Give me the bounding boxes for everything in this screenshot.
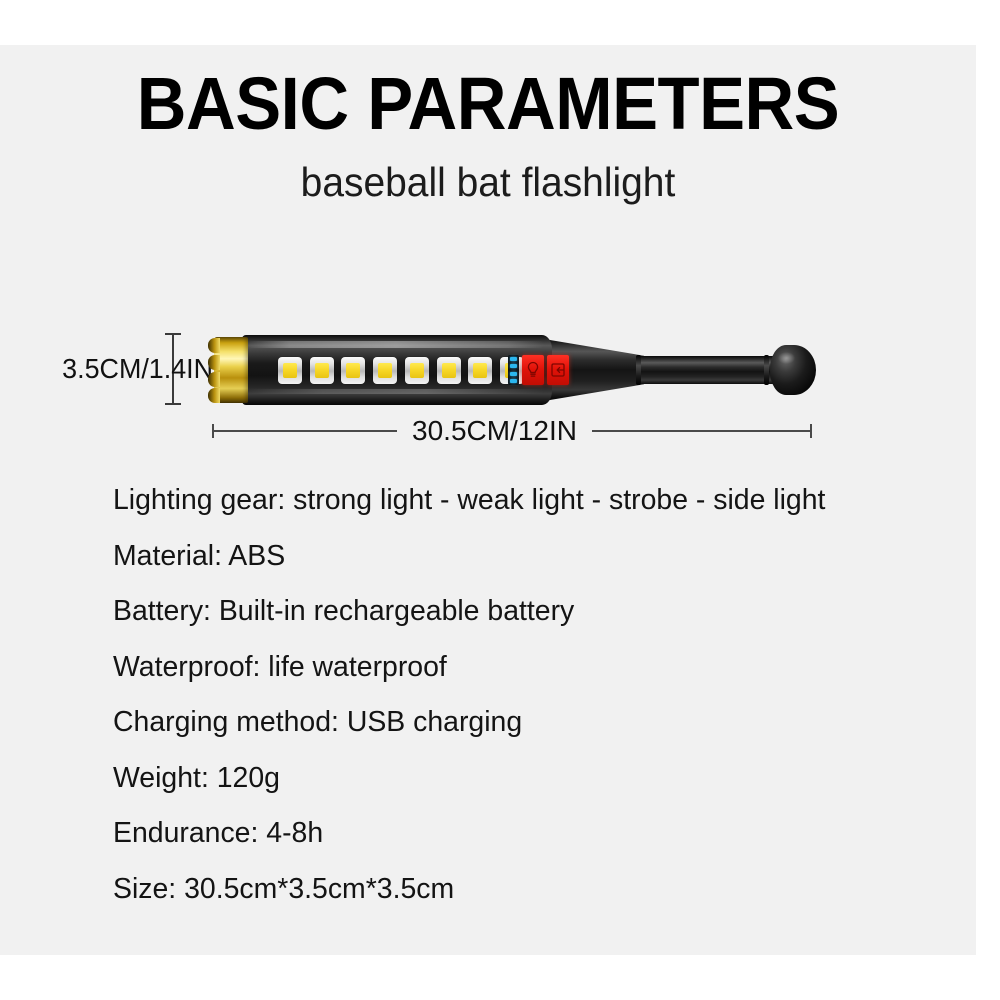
control-panel	[508, 353, 570, 387]
led-module	[373, 357, 397, 384]
spec-item: Endurance: 4-8h	[113, 806, 946, 862]
led-module	[405, 357, 429, 384]
product-spec-page: BASIC PARAMETERS baseball bat flashlight…	[0, 0, 1000, 1000]
length-dimension-line-right	[592, 430, 812, 432]
led-module	[437, 357, 461, 384]
battery-bar	[510, 372, 517, 376]
bat-handle-ring-upper	[636, 355, 641, 385]
led-module	[310, 357, 334, 384]
spec-item: Material: ABS	[113, 529, 946, 585]
battery-bar	[510, 379, 517, 383]
bezel-crenellation	[208, 337, 220, 403]
spec-item: Waterproof: life waterproof	[113, 640, 946, 696]
length-dimension-label: 30.5CM/12IN	[397, 415, 592, 447]
led-module	[468, 357, 492, 384]
battery-indicator	[508, 355, 519, 385]
battery-bar	[510, 364, 517, 368]
lightbulb-icon[interactable]	[522, 355, 544, 385]
spec-item: Lighting gear: strong light - weak light…	[113, 473, 946, 529]
bat-handle	[638, 356, 778, 384]
spec-item: Weight: 120g	[113, 751, 946, 807]
height-dimension-label: 3.5CM/1.4IN	[62, 353, 162, 385]
specification-list: Lighting gear: strong light - weak light…	[113, 473, 963, 917]
power-icon[interactable]	[547, 355, 569, 385]
page-subtitle: baseball bat flashlight	[24, 158, 951, 206]
bat-end-knob	[770, 345, 816, 395]
led-module	[341, 357, 365, 384]
length-dimension-cap-right	[810, 424, 812, 438]
baseball-bat-flashlight-image	[208, 327, 818, 411]
height-dimension-cap-bottom	[165, 403, 181, 405]
spec-item: Size: 30.5cm*3.5cm*3.5cm	[113, 862, 946, 918]
product-illustration: 3.5CM/1.4IN 30.5CM/12IN	[0, 275, 976, 460]
length-dimension-line-left	[212, 430, 397, 432]
side-led-array	[278, 356, 524, 384]
battery-bar	[510, 357, 517, 361]
bat-handle-ring-lower	[764, 355, 769, 385]
bat-barrel-highlight	[248, 341, 544, 348]
bat-knob-highlight	[778, 352, 795, 364]
spec-item: Battery: Built-in rechargeable battery	[113, 584, 946, 640]
led-module	[278, 357, 302, 384]
bat-barrel-highlight-lower	[248, 389, 544, 394]
page-title: BASIC PARAMETERS	[34, 65, 942, 143]
spec-item: Charging method: USB charging	[113, 695, 946, 751]
